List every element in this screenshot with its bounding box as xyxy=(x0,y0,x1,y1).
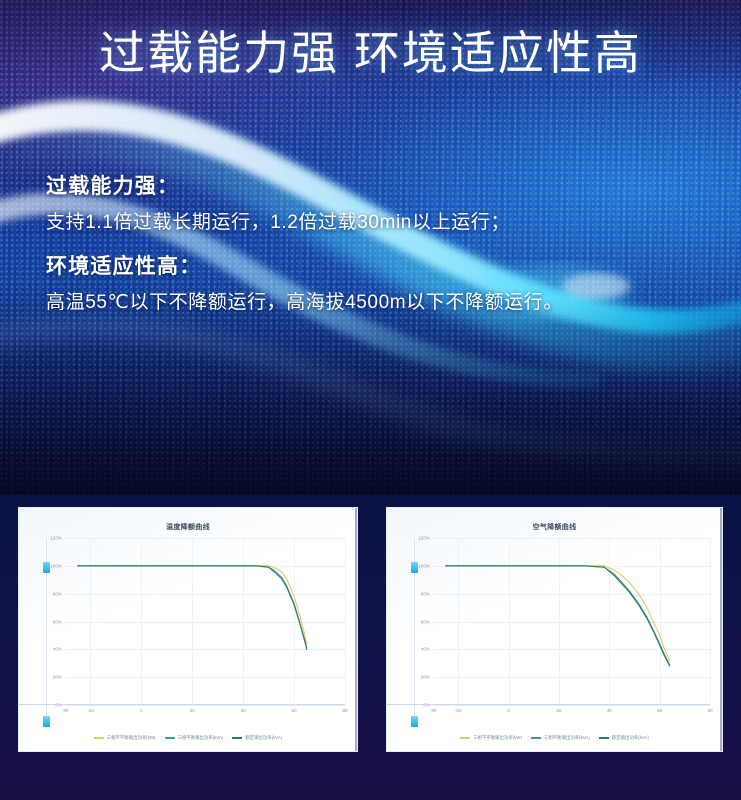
legend-label: 额定输出功率(kVA) xyxy=(612,735,649,741)
chart-y-tick-label: 60% xyxy=(53,619,62,624)
chart-x-tick-label: 0 xyxy=(140,708,143,713)
chart-series-line xyxy=(446,566,670,665)
chart-legend-item[interactable]: 额定输出功率(kVA) xyxy=(232,735,282,741)
chart-section: 温度降额曲线 120%100%80%60%40%20%0%-30-2002040… xyxy=(0,495,741,800)
chart-legend: 三相不平衡输出功率(kW)三相平衡输出功率(kVA)额定输出功率(kVA) xyxy=(19,735,357,741)
feature-heading-environment: 环境适应性高： xyxy=(46,250,706,280)
card-right-edge xyxy=(720,508,722,751)
chart-series-line xyxy=(78,566,307,650)
hero-banner: 过载能力强 环境适应性高 过载能力强： 支持1.1倍过载长期运行，1.2倍过载3… xyxy=(0,0,741,495)
chart-y-tick-label: 120% xyxy=(418,536,430,541)
chart-plot-area: 120%100%80%60%40%20%0%-30-20020406080 xyxy=(65,538,345,705)
chart-series-line xyxy=(446,566,670,661)
chart-legend-item[interactable]: 三相不平衡输出功率(kW) xyxy=(460,735,522,741)
chart-x-tick-label: 80 xyxy=(342,708,347,713)
chart-scroll-handle-top[interactable] xyxy=(43,562,50,573)
chart-x-tick-label: -20 xyxy=(455,708,462,713)
chart-y-tick-label: 100% xyxy=(50,563,62,568)
chart-x-tick-label: 20 xyxy=(190,708,195,713)
chart-y-tick-label: 80% xyxy=(421,591,430,596)
chart-title: 空气降额曲线 xyxy=(387,522,722,532)
chart-x-tick-label: 20 xyxy=(556,708,561,713)
chart-x-tick-label: -30 xyxy=(430,708,437,713)
chart-y-tick-label: 40% xyxy=(421,647,430,652)
chart-card-altitude-derating: 空气降额曲线 120%100%80%60%40%20%0%-30-2002040… xyxy=(386,507,723,752)
legend-color-swatch xyxy=(599,737,609,739)
chart-x-tick-label: -20 xyxy=(87,708,94,713)
chart-legend-item[interactable]: 额定输出功率(kVA) xyxy=(599,735,649,741)
chart-series-line xyxy=(78,566,307,644)
legend-label: 三相平衡输出功率(kVA) xyxy=(178,735,224,741)
legend-color-swatch xyxy=(94,737,104,739)
page-title: 过载能力强 环境适应性高 xyxy=(0,26,741,80)
chart-gridline-vertical xyxy=(710,538,711,705)
chart-legend-item[interactable]: 三相平衡输出功率(kVA) xyxy=(165,735,224,741)
chart-legend: 三相不平衡输出功率(kW)三相平衡输出功率(kVA)额定输出功率(kVA) xyxy=(387,735,722,741)
legend-color-swatch xyxy=(531,737,541,739)
chart-series-group xyxy=(433,538,710,705)
chart-series-group xyxy=(65,538,345,705)
chart-y-tick-label: 60% xyxy=(421,619,430,624)
feature-heading-overload: 过载能力强： xyxy=(46,170,706,200)
chart-gridline-horizontal xyxy=(65,705,345,706)
chart-y-tick-label: 100% xyxy=(418,563,430,568)
chart-legend-item[interactable]: 三相平衡输出功率(kVA) xyxy=(531,735,590,741)
chart-x-tick-label: 60 xyxy=(292,708,297,713)
chart-scroll-handle-top[interactable] xyxy=(411,562,418,573)
legend-label: 额定输出功率(kVA) xyxy=(245,735,282,741)
chart-x-tick-label: 40 xyxy=(607,708,612,713)
legend-color-swatch xyxy=(460,737,470,739)
feature-body-overload: 支持1.1倍过载长期运行，1.2倍过载30min以上运行； xyxy=(46,207,706,234)
chart-card-temperature-derating: 温度降额曲线 120%100%80%60%40%20%0%-30-2002040… xyxy=(18,507,358,752)
legend-label: 三相平衡输出功率(kVA) xyxy=(544,735,590,741)
chart-scroll-handle-bottom[interactable] xyxy=(43,716,50,727)
chart-y-tick-label: 80% xyxy=(53,591,62,596)
chart-y-tick-label: 120% xyxy=(50,536,62,541)
chart-y-tick-label: 20% xyxy=(53,675,62,680)
feature-body-environment: 高温55℃以下不降额运行，高海拔4500m以下不降额运行。 xyxy=(46,287,706,314)
legend-label: 三相不平衡输出功率(kW) xyxy=(107,735,156,741)
chart-x-tick-label: 40 xyxy=(241,708,246,713)
chart-plot-area: 120%100%80%60%40%20%0%-30-20020406080 xyxy=(433,538,710,705)
feature-list: 过载能力强： 支持1.1倍过载长期运行，1.2倍过载30min以上运行； 环境适… xyxy=(46,170,706,314)
chart-y-tick-label: 20% xyxy=(421,675,430,680)
chart-series-line xyxy=(446,566,670,666)
chart-gridline-horizontal xyxy=(433,705,710,706)
chart-title: 温度降额曲线 xyxy=(19,522,357,532)
chart-x-tick-label: 0 xyxy=(507,708,510,713)
legend-color-swatch xyxy=(165,737,175,739)
chart-x-tick-label: -30 xyxy=(62,708,69,713)
chart-legend-item[interactable]: 三相不平衡输出功率(kW) xyxy=(94,735,156,741)
chart-gridline-vertical xyxy=(345,538,346,705)
chart-y-tick-label: 40% xyxy=(53,647,62,652)
chart-x-tick-label: 80 xyxy=(707,708,712,713)
card-right-edge xyxy=(355,508,357,751)
legend-label: 三相不平衡输出功率(kW) xyxy=(473,735,522,741)
chart-x-tick-label: 60 xyxy=(657,708,662,713)
chart-scroll-handle-bottom[interactable] xyxy=(411,716,418,727)
chart-series-line xyxy=(78,566,307,648)
legend-color-swatch xyxy=(232,737,242,739)
